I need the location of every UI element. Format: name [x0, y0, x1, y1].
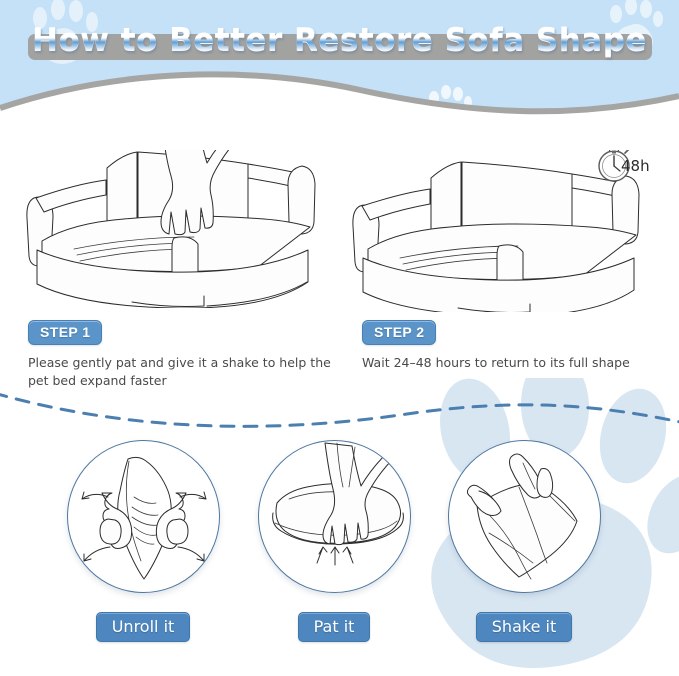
timer-duration-label: 48h	[621, 157, 650, 175]
page-title-wrap: How to Better Restore Sofa Shape	[0, 14, 679, 66]
action-item-shake: Shake it	[429, 440, 619, 642]
step-2-text: Wait 24–48 hours to return to its full s…	[362, 354, 679, 372]
action-label-shake[interactable]: Shake it	[476, 612, 572, 642]
step-1-block: STEP 1 Please gently pat and give it a s…	[28, 320, 348, 390]
action-circles-row: Unroll it	[0, 440, 679, 655]
step-2-block: STEP 2 Wait 24–48 hours to return to its…	[362, 320, 679, 372]
action-item-unroll: Unroll it	[48, 440, 238, 642]
hands-shaking-fabric-icon	[449, 441, 601, 593]
gray-wave-divider	[0, 60, 679, 150]
step-2-badge: STEP 2	[362, 320, 436, 345]
infographic-page: How to Better Restore Sofa Shape	[0, 0, 679, 676]
action-label-unroll[interactable]: Unroll it	[96, 612, 191, 642]
shake-illustration-circle	[448, 440, 601, 593]
action-label-pat[interactable]: Pat it	[298, 612, 371, 642]
dashed-wave-divider	[0, 385, 679, 445]
unroll-illustration-circle	[67, 440, 220, 593]
hands-unrolling-fabric-icon	[68, 441, 220, 593]
action-item-pat: Pat it	[239, 440, 429, 642]
pat-illustration-circle	[258, 440, 411, 593]
hand-patting-cushion-icon	[259, 441, 411, 593]
step-1-badge: STEP 1	[28, 320, 102, 345]
page-title: How to Better Restore Sofa Shape	[32, 22, 647, 58]
